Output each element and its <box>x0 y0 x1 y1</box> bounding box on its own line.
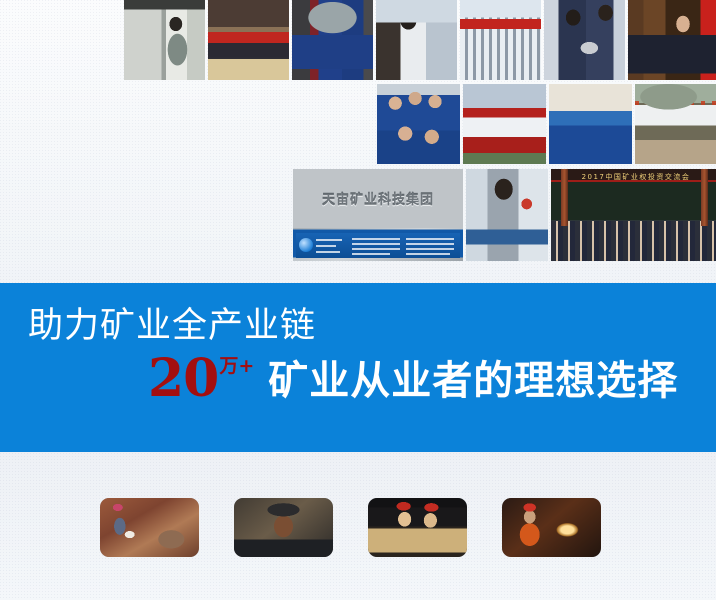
thumbnail-two-mine-workers[interactable] <box>368 498 467 557</box>
collage-tile-helmet-crew-van[interactable] <box>635 84 716 164</box>
collage-tile-company-sign[interactable]: 天宙矿业科技集团 <box>293 169 463 261</box>
conference-banner-text: 2017中国矿业权投资交流会 <box>561 172 711 182</box>
thumbnail-smiling-miner[interactable] <box>234 498 333 557</box>
company-sign-text: 天宙矿业科技集团 <box>300 189 456 208</box>
photo-bench-worker <box>376 0 457 80</box>
photo-conference-group <box>551 169 716 261</box>
photo-furnace-worker <box>502 498 601 557</box>
slogan-line-1: 助力矿业全产业链 <box>28 309 316 344</box>
collage-row-2 <box>377 84 716 164</box>
collage-tile-two-workers-pan[interactable] <box>544 0 625 80</box>
thumbnail-furnace-worker[interactable] <box>502 498 601 557</box>
photo-two-workers-pan <box>544 0 625 80</box>
collage-tile-blue-uniform-group[interactable] <box>377 84 460 164</box>
globe-logo-icon <box>299 238 313 252</box>
collage-tile-chairman-office[interactable] <box>628 0 716 80</box>
photo-mountain-team <box>292 0 373 80</box>
collage-tile-sample-handling[interactable] <box>466 169 548 261</box>
photo-award-ceremony <box>208 0 289 80</box>
collage-tile-flotation-line[interactable] <box>460 0 541 80</box>
photo-two-mine-workers <box>368 498 467 557</box>
slogan-banner: 助力矿业全产业链 20 万+ 矿业从业者的理想选择 <box>0 283 716 452</box>
photo-mine-site-team <box>549 84 632 164</box>
slogan-line-2: 矿业从业者的理想选择 <box>268 361 678 401</box>
collage-tile-mountain-team[interactable] <box>292 0 373 80</box>
promo-page: 天宙矿业科技集团 <box>0 0 716 600</box>
company-photo-collage: 天宙矿业科技集团 <box>0 0 716 262</box>
photo-helmet-crew-van <box>635 84 716 164</box>
photo-sample-handling <box>466 169 548 261</box>
collage-tile-mine-site-team[interactable] <box>549 84 632 164</box>
slogan-line-2-group: 20 万+ 矿业从业者的理想选择 <box>148 355 678 403</box>
collage-tile-conference-group[interactable]: 2017中国矿业权投资交流会 <box>551 169 716 261</box>
thumbnail-geologist-outcrop[interactable] <box>100 498 199 557</box>
photo-flotation-line <box>460 0 541 80</box>
collage-tile-lab-instruments[interactable] <box>124 0 205 80</box>
photo-chairman-office <box>628 0 716 80</box>
member-count-unit: 万+ <box>219 357 254 376</box>
collage-tile-banner-group-photo[interactable] <box>463 84 546 164</box>
collage-tile-bench-worker[interactable] <box>376 0 457 80</box>
collage-tile-award-ceremony[interactable] <box>208 0 289 80</box>
photo-smiling-miner <box>234 498 333 557</box>
audience-thumbnail-row <box>100 498 636 558</box>
collage-row-1 <box>124 0 716 80</box>
photo-banner-group <box>463 84 546 164</box>
member-count-number: 20 <box>148 355 218 403</box>
photo-lab-instruments <box>124 0 205 80</box>
company-sign-strip <box>296 233 459 259</box>
photo-blue-uniform-group <box>377 84 460 164</box>
photo-geologist-outcrop <box>100 498 199 557</box>
collage-row-3: 天宙矿业科技集团 <box>293 169 716 261</box>
